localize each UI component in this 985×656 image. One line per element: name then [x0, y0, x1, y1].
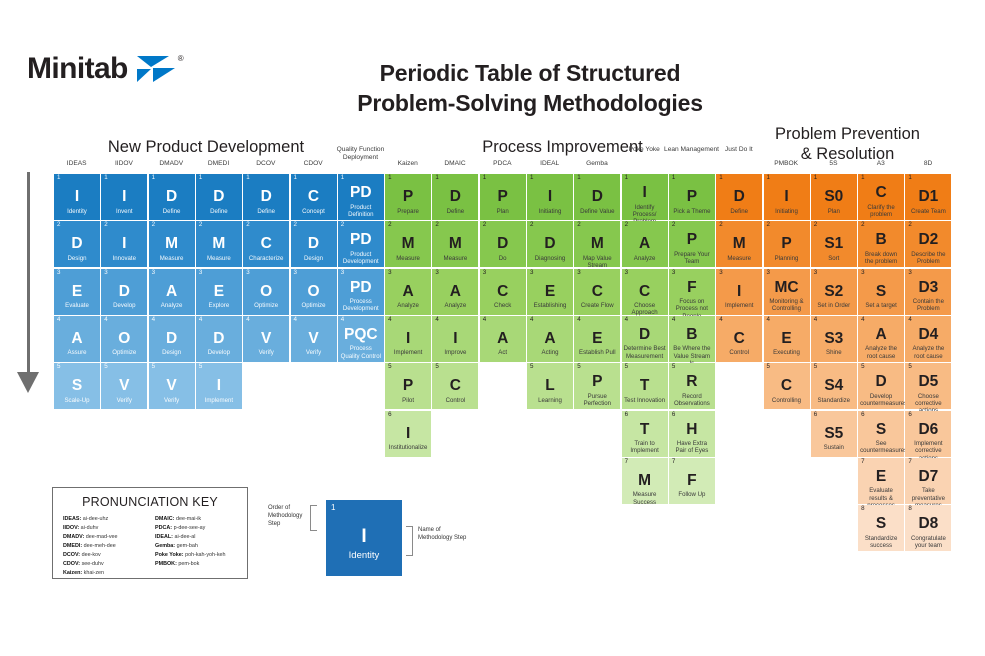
tile-dmaic-2[interactable]: 2MMeasure — [432, 221, 478, 267]
tile-kaizen-5[interactable]: 5PPilot — [385, 363, 431, 409]
tile-ideas-4[interactable]: 4AAssure — [54, 316, 100, 362]
tile-8d-6[interactable]: 6D6Implement corrective actions — [905, 411, 951, 457]
tile-a3-7[interactable]: 7EEvaluate results & processes — [858, 458, 904, 504]
arrow-stem — [27, 172, 30, 372]
tile-step-number: 5 — [908, 364, 911, 370]
tile-step-name: Implement — [387, 349, 429, 356]
column-label-8d: 8D — [897, 160, 958, 168]
tile-symbol: C — [875, 185, 886, 201]
brand-name: Minitab — [27, 52, 128, 86]
tile-symbol: D1 — [918, 189, 938, 205]
tile-just-do-it-4[interactable]: 4CControl — [716, 316, 762, 362]
pronunciation-row: IDEAL: ai-dee-al — [155, 533, 237, 542]
tile-symbol: T — [640, 422, 649, 438]
tile-symbol: M — [591, 236, 604, 252]
tile-symbol: O — [307, 284, 319, 300]
tile-symbol: M — [638, 473, 651, 489]
tile-step-number: 4 — [861, 317, 864, 323]
tile-step-number: 4 — [152, 317, 155, 323]
tile-step-number: 4 — [767, 317, 770, 323]
tile-step-number: 4 — [719, 317, 722, 323]
tile-lean-management-6[interactable]: 6HHave Extra Pair of Eyes — [669, 411, 715, 457]
tile-5s-5[interactable]: 5S4Standardize — [811, 363, 857, 409]
tile-gemba-2[interactable]: 2MMap Value Stream — [574, 221, 620, 267]
tile-step-number: 6 — [388, 412, 391, 418]
tile-symbol: D — [734, 189, 745, 205]
tile-quality-function-deployment-3[interactable]: 3PDProcess Development — [338, 269, 384, 315]
tile-symbol: D — [875, 374, 886, 390]
tile-iidov-5[interactable]: 5VVerify — [101, 363, 147, 409]
title-line-2: Problem-Solving Methodologies — [230, 88, 830, 118]
tile-step-name: Check — [482, 302, 524, 309]
tile-step-number: 8 — [861, 506, 864, 512]
tile-step-number: 3 — [341, 270, 344, 276]
tile-step-number: 2 — [483, 222, 486, 228]
tile-dmadv-2[interactable]: 2MMeasure — [149, 221, 195, 267]
tile-dcov-3[interactable]: 3OOptimize — [243, 269, 289, 315]
tile-step-name: Optimize — [293, 302, 335, 309]
pronunciation-say: ai-dee-uhz — [81, 516, 108, 522]
tile-pdca-2[interactable]: 2DDo — [480, 221, 526, 267]
tile-symbol: C — [261, 236, 272, 252]
tile-step-number: 3 — [767, 270, 770, 276]
tile-dmaic-3[interactable]: 3AAnalyze — [432, 269, 478, 315]
tile-dmedi-2[interactable]: 2MMeasure — [196, 221, 242, 267]
tile-symbol: M — [449, 236, 462, 252]
tile-symbol: D5 — [918, 374, 938, 390]
tile-step-number: 1 — [908, 175, 911, 181]
tile-symbol: E — [781, 331, 791, 347]
legend-bracket-right — [406, 526, 413, 556]
tile-step-number: 1 — [625, 175, 628, 181]
tile-cdov-1[interactable]: 1CConcept — [291, 174, 337, 220]
tile-iidov-3[interactable]: 3DDevelop — [101, 269, 147, 315]
tile-step-name: Contain the Problem — [907, 298, 949, 313]
tile-symbol: A — [71, 331, 82, 347]
tile-step-name: Measure Success — [624, 491, 666, 506]
tile-step-number: 1 — [861, 175, 864, 181]
tile-symbol: S3 — [824, 331, 843, 347]
tile-a3-8[interactable]: 8SStandardize success — [858, 505, 904, 551]
pronunciation-say: gem-bah — [175, 543, 198, 549]
tile-step-number: 7 — [625, 459, 628, 465]
tile-symbol: D — [450, 189, 461, 205]
tile-lean-management-5[interactable]: 5RRecord Observations — [669, 363, 715, 409]
tile-step-name: Product Development — [340, 251, 382, 266]
tile-dcov-2[interactable]: 2CCharacterize — [243, 221, 289, 267]
tile-symbol: I — [75, 189, 79, 205]
tile-step-number: 8 — [908, 506, 911, 512]
tile-symbol: PD — [350, 185, 372, 201]
pronunciation-term: IIDOV: — [63, 525, 79, 531]
tile-dmaic-1[interactable]: 1DDefine — [432, 174, 478, 220]
tile-step-name: Clarify the problem — [860, 204, 902, 219]
tile-dmadv-5[interactable]: 5VVerify — [149, 363, 195, 409]
tile-5s-4[interactable]: 4S3Shine — [811, 316, 857, 362]
tile-step-number: 2 — [104, 222, 107, 228]
tile-step-name: Have Extra Pair of Eyes — [671, 440, 713, 455]
tile-symbol: F — [687, 473, 696, 489]
pronunciation-row: Poke Yoke: poh-kah-yoh-keh — [155, 551, 237, 560]
tile-symbol: I — [217, 378, 221, 394]
tile-pmbok-5[interactable]: 5CControlling — [764, 363, 810, 409]
tile-step-number: 5 — [57, 364, 60, 370]
tile-symbol: D — [213, 189, 224, 205]
minitab-arrow-mark — [137, 56, 177, 82]
tile-step-number: 1 — [672, 175, 675, 181]
tile-step-number: 2 — [388, 222, 391, 228]
tile-step-number: 2 — [861, 222, 864, 228]
tile-step-number: 1 — [767, 175, 770, 181]
tile-symbol: A — [544, 331, 555, 347]
tile-step-name: Test Innovation — [624, 397, 666, 404]
tile-symbol: D — [119, 284, 130, 300]
tile-step-name: Verify — [151, 397, 193, 404]
tile-quality-function-deployment-1[interactable]: 1PDProduct Definition — [338, 174, 384, 220]
tile-poke-yoke-3[interactable]: 3CChoose Approach — [622, 269, 668, 315]
tile-symbol: L — [545, 378, 554, 394]
tile-step-name: Map Value Stream — [576, 255, 618, 270]
tile-dmaic-4[interactable]: 4IImprove — [432, 316, 478, 362]
tile-step-name: Set in Order — [813, 302, 855, 309]
tile-step-number: 4 — [294, 317, 297, 323]
pronunciation-say: dee-mad-vee — [84, 534, 117, 540]
tile-symbol: D — [261, 189, 272, 205]
tile-cdov-3[interactable]: 3OOptimize — [291, 269, 337, 315]
tile-ideal-1[interactable]: 1IInitiating — [527, 174, 573, 220]
pronunciation-say: ai-duhv — [79, 525, 98, 531]
tile-step-number: 1 — [57, 175, 60, 181]
tile-symbol: I — [406, 426, 410, 442]
tile-poke-yoke-4[interactable]: 4DDetermine Best Measurement — [622, 316, 668, 362]
tile-step-name: Measure — [198, 255, 240, 262]
tile-symbol: I — [642, 185, 646, 201]
tile-dmedi-4[interactable]: 4DDevelop — [196, 316, 242, 362]
tile-symbol: O — [118, 331, 130, 347]
tile-a3-6[interactable]: 6SSee countermeasures — [858, 411, 904, 457]
pronunciation-key-heading: PRONUNCIATION KEY — [63, 495, 237, 509]
pronunciation-row: CDOV: see-duhv — [63, 560, 145, 569]
tile-symbol: S1 — [824, 236, 843, 252]
tile-step-number: 5 — [577, 364, 580, 370]
tile-step-number: 2 — [625, 222, 628, 228]
tile-step-name: Implement — [198, 397, 240, 404]
pronunciation-say: p-dee-see-ay — [172, 525, 205, 531]
tile-5s-2[interactable]: 2S1Sort — [811, 221, 857, 267]
tile-ideas-2[interactable]: 2DDesign — [54, 221, 100, 267]
tile-step-name: Analyze — [387, 302, 429, 309]
tile-step-name: Measure — [151, 255, 193, 262]
tile-step-number: 4 — [908, 317, 911, 323]
tile-ideas-3[interactable]: 3EEvaluate — [54, 269, 100, 315]
tile-symbol: C — [734, 331, 745, 347]
tile-pmbok-2[interactable]: 2PPlanning — [764, 221, 810, 267]
tile-symbol: D — [592, 189, 603, 205]
tile-symbol: M — [165, 236, 178, 252]
tile-step-name: Controlling — [766, 397, 808, 404]
tile-dcov-1[interactable]: 1DDefine — [243, 174, 289, 220]
pronunciation-say: dee-mai-ik — [174, 516, 201, 522]
tile-symbol: D — [71, 236, 82, 252]
tile-step-number: 3 — [104, 270, 107, 276]
tile-symbol: PQC — [344, 327, 378, 343]
tile-dmaic-5[interactable]: 5CControl — [432, 363, 478, 409]
tile-ideas-5[interactable]: 5SScale-Up — [54, 363, 100, 409]
tile-5s-6[interactable]: 6S5Sustain — [811, 411, 857, 457]
tile-step-name: Design — [293, 255, 335, 262]
tile-symbol: C — [450, 378, 461, 394]
tile-5s-1[interactable]: 1S0Plan — [811, 174, 857, 220]
tile-gemba-5[interactable]: 5PPursue Perfection — [574, 363, 620, 409]
tile-poke-yoke-6[interactable]: 6TTrain to Implement — [622, 411, 668, 457]
tile-step-name: Standardize success — [860, 535, 902, 550]
tile-8d-3[interactable]: 3D3Contain the Problem — [905, 269, 951, 315]
tile-just-do-it-1[interactable]: 1DDefine — [716, 174, 762, 220]
tile-symbol: S5 — [824, 426, 843, 442]
minitab-logo: Minitab ® — [27, 52, 184, 86]
tile-symbol: T — [640, 378, 649, 394]
tile-step-number: 1 — [152, 175, 155, 181]
tile-dmedi-5[interactable]: 5IImplement — [196, 363, 242, 409]
legend-sample-name: Identity — [326, 550, 402, 561]
tile-pdca-3[interactable]: 3CCheck — [480, 269, 526, 315]
step-order-arrow — [17, 172, 39, 393]
tile-gemba-3[interactable]: 3CCreate Flow — [574, 269, 620, 315]
tile-lean-management-3[interactable]: 3FFocus on Process not People — [669, 269, 715, 315]
tile-step-number: 3 — [246, 270, 249, 276]
tile-pdca-1[interactable]: 1PPlan — [480, 174, 526, 220]
tile-a3-3[interactable]: 3SSet a target — [858, 269, 904, 315]
pronunciation-row: PMBOK: pem-bok — [155, 560, 237, 569]
tile-ideal-5[interactable]: 5LLearning — [527, 363, 573, 409]
tile-step-number: 4 — [57, 317, 60, 323]
tile-step-number: 1 — [719, 175, 722, 181]
tile-step-number: 5 — [861, 364, 864, 370]
tile-kaizen-4[interactable]: 4IImplement — [385, 316, 431, 362]
tile-step-number: 3 — [577, 270, 580, 276]
tile-a3-1[interactable]: 1CClarify the problem — [858, 174, 904, 220]
tile-step-number: 4 — [341, 317, 344, 323]
tile-step-name: Pick a Theme — [671, 208, 713, 215]
tile-step-name: Optimize — [245, 302, 287, 309]
tile-kaizen-3[interactable]: 3AAnalyze — [385, 269, 431, 315]
tile-poke-yoke-5[interactable]: 5TTest Innovation — [622, 363, 668, 409]
tile-step-name: Pursue Perfection — [576, 393, 618, 408]
tile-step-name: Define — [151, 208, 193, 215]
tile-symbol: D — [213, 331, 224, 347]
tile-dmedi-3[interactable]: 3EExplore — [196, 269, 242, 315]
tile-step-number: 5 — [435, 364, 438, 370]
tile-symbol: A — [450, 284, 461, 300]
tile-symbol: S2 — [824, 284, 843, 300]
tile-iidov-2[interactable]: 2IInnovate — [101, 221, 147, 267]
column-label-gemba: Gemba — [566, 160, 627, 168]
tile-symbol: D — [497, 236, 508, 252]
tile-pmbok-4[interactable]: 4EExecuting — [764, 316, 810, 362]
tile-symbol: E — [592, 331, 602, 347]
tile-8d-5[interactable]: 5D5Choose corrective actions — [905, 363, 951, 409]
tile-step-number: 3 — [814, 270, 817, 276]
tile-kaizen-6[interactable]: 6IInstitutionalize — [385, 411, 431, 457]
pronunciation-term: DMADV: — [63, 534, 84, 540]
tile-step-name: Analyze the root cause — [860, 345, 902, 360]
tile-just-do-it-2[interactable]: 2MMeasure — [716, 221, 762, 267]
tile-symbol: S0 — [824, 189, 843, 205]
tile-step-name: Scale-Up — [56, 397, 98, 404]
tile-step-number: 3 — [388, 270, 391, 276]
tile-a3-2[interactable]: 2BBreak down the problem — [858, 221, 904, 267]
tile-step-name: Congratulate your team — [907, 535, 949, 550]
tile-poke-yoke-1[interactable]: 1IIdentify Process/ Problem — [622, 174, 668, 220]
tile-symbol: MC — [774, 280, 798, 296]
tile-step-number: 2 — [294, 222, 297, 228]
tile-8d-7[interactable]: 7D7Take preventative measures — [905, 458, 951, 504]
tile-just-do-it-3[interactable]: 3IImplement — [716, 269, 762, 315]
tile-step-name: Plan — [482, 208, 524, 215]
tile-step-name: Train to Implement — [624, 440, 666, 455]
tile-a3-4[interactable]: 4AAnalyze the root cause — [858, 316, 904, 362]
tile-lean-management-2[interactable]: 2PPrepare Your Team — [669, 221, 715, 267]
tile-ideal-4[interactable]: 4AActing — [527, 316, 573, 362]
tile-symbol: P — [498, 189, 508, 205]
tile-step-number: 3 — [861, 270, 864, 276]
tile-step-name: Pilot — [387, 397, 429, 404]
tile-step-name: Learning — [529, 397, 571, 404]
tile-symbol: I — [406, 331, 410, 347]
pronunciation-say: dee-meh-dee — [82, 543, 116, 549]
tile-lean-management-1[interactable]: 1PPick a Theme — [669, 174, 715, 220]
tile-step-number: 2 — [199, 222, 202, 228]
tile-symbol: V — [308, 331, 318, 347]
tile-step-number: 7 — [861, 459, 864, 465]
tile-step-name: Analyze — [434, 302, 476, 309]
tile-step-number: 1 — [294, 175, 297, 181]
tile-symbol: I — [784, 189, 788, 205]
tile-step-name: Prepare Your Team — [671, 251, 713, 266]
tile-8d-1[interactable]: 1D1Create Team — [905, 174, 951, 220]
tile-symbol: PD — [350, 280, 372, 296]
tile-symbol: S — [876, 516, 886, 532]
tile-step-name: Evaluate — [56, 302, 98, 309]
pronunciation-say: see-duhv — [80, 561, 104, 567]
tile-step-name: Verify — [103, 397, 145, 404]
tile-8d-8[interactable]: 8D8Congratulate your team — [905, 505, 951, 551]
tile-symbol: B — [875, 232, 886, 248]
tile-symbol: A — [166, 284, 177, 300]
pronunciation-term: IDEAS: — [63, 516, 81, 522]
tile-a3-5[interactable]: 5DDevelop countermeasures — [858, 363, 904, 409]
tile-5s-3[interactable]: 3S2Set in Order — [811, 269, 857, 315]
tile-step-number: 2 — [57, 222, 60, 228]
tile-gemba-1[interactable]: 1DDefine Value — [574, 174, 620, 220]
tile-step-number: 2 — [246, 222, 249, 228]
tile-step-number: 5 — [199, 364, 202, 370]
tile-symbol: D — [639, 327, 650, 343]
tile-step-name: Measure — [434, 255, 476, 262]
tile-step-number: 1 — [483, 175, 486, 181]
tile-step-name: Optimize — [103, 349, 145, 356]
tile-step-number: 6 — [672, 412, 675, 418]
tile-8d-4[interactable]: 4D4Analyze the root cause — [905, 316, 951, 362]
tile-step-name: Break down the problem — [860, 251, 902, 266]
tile-dcov-4[interactable]: 4VVerify — [243, 316, 289, 362]
tile-symbol: C — [497, 284, 508, 300]
tile-poke-yoke-2[interactable]: 2AAnalyze — [622, 221, 668, 267]
tile-step-name: Initiating — [529, 208, 571, 215]
tile-pdca-4[interactable]: 4AAct — [480, 316, 526, 362]
tile-step-name: Implement — [718, 302, 760, 309]
tile-ideal-2[interactable]: 2DDiagnosing — [527, 221, 573, 267]
tile-dmadv-3[interactable]: 3AAnalyze — [149, 269, 195, 315]
tile-lean-management-7[interactable]: 7FFollow Up — [669, 458, 715, 504]
tile-pmbok-3[interactable]: 3MCMonitoring & Controlling — [764, 269, 810, 315]
legend-sample-symbol: I — [326, 526, 402, 548]
tile-step-name: Process Development — [340, 298, 382, 313]
tile-symbol: M — [402, 236, 415, 252]
tile-step-name: Concept — [293, 208, 335, 215]
pronunciation-term: DMEDI: — [63, 543, 82, 549]
tile-step-name: Improve — [434, 349, 476, 356]
tile-step-name: Initiating — [766, 208, 808, 215]
arrow-head — [17, 372, 39, 393]
tile-step-name: Sustain — [813, 444, 855, 451]
tile-kaizen-1[interactable]: 1PPrepare — [385, 174, 431, 220]
tile-dmadv-4[interactable]: 4DDesign — [149, 316, 195, 362]
tile-gemba-4[interactable]: 4EEstablish Pull — [574, 316, 620, 362]
tile-dmadv-1[interactable]: 1DDefine — [149, 174, 195, 220]
tile-quality-function-deployment-2[interactable]: 2PDProduct Development — [338, 221, 384, 267]
tile-kaizen-2[interactable]: 2MMeasure — [385, 221, 431, 267]
tile-8d-2[interactable]: 2D2Describe the Problem — [905, 221, 951, 267]
tile-step-name: Sort — [813, 255, 855, 262]
tile-step-number: 2 — [435, 222, 438, 228]
tile-step-name: Control — [434, 397, 476, 404]
tile-step-number: 4 — [530, 317, 533, 323]
tile-iidov-1[interactable]: 1IInvent — [101, 174, 147, 220]
tile-dmedi-1[interactable]: 1DDefine — [196, 174, 242, 220]
tile-step-name: Choose Approach — [624, 302, 666, 317]
tile-symbol: P — [687, 189, 697, 205]
tile-step-number: 2 — [908, 222, 911, 228]
tile-iidov-4[interactable]: 4OOptimize — [101, 316, 147, 362]
tile-symbol: C — [592, 284, 603, 300]
tile-step-name: Institutionalize — [387, 444, 429, 451]
tile-symbol: D — [166, 189, 177, 205]
tile-ideal-3[interactable]: 3EEstablishing — [527, 269, 573, 315]
title-line-1: Periodic Table of Structured — [230, 58, 830, 88]
tile-step-number: 5 — [530, 364, 533, 370]
tile-step-name: Establish Pull — [576, 349, 618, 356]
tile-step-number: 3 — [719, 270, 722, 276]
tile-step-number: 2 — [719, 222, 722, 228]
tile-cdov-2[interactable]: 2DDesign — [291, 221, 337, 267]
pronunciation-say: dee-kov — [80, 552, 101, 558]
pronunciation-left-column: IDEAS: ai-dee-uhzIIDOV: ai-duhvDMADV: de… — [63, 515, 145, 578]
pronunciation-key: PRONUNCIATION KEY IDEAS: ai-dee-uhzIIDOV… — [52, 487, 248, 579]
tile-ideas-1[interactable]: 1IIdentity — [54, 174, 100, 220]
tile-symbol: M — [212, 236, 225, 252]
group-heading-new-product-development: New Product Development — [96, 137, 316, 157]
tile-quality-function-deployment-4[interactable]: 4PQCProcess Quality Control — [338, 316, 384, 362]
tile-step-number: 3 — [483, 270, 486, 276]
tile-lean-management-4[interactable]: 4BBe Where the Value Stream Is — [669, 316, 715, 362]
tile-cdov-4[interactable]: 4VVerify — [291, 316, 337, 362]
tile-poke-yoke-7[interactable]: 7MMeasure Success — [622, 458, 668, 504]
tile-step-number: 1 — [199, 175, 202, 181]
tile-step-name: Characterize — [245, 255, 287, 262]
tile-pmbok-1[interactable]: 1IInitiating — [764, 174, 810, 220]
tile-symbol: S — [876, 422, 886, 438]
